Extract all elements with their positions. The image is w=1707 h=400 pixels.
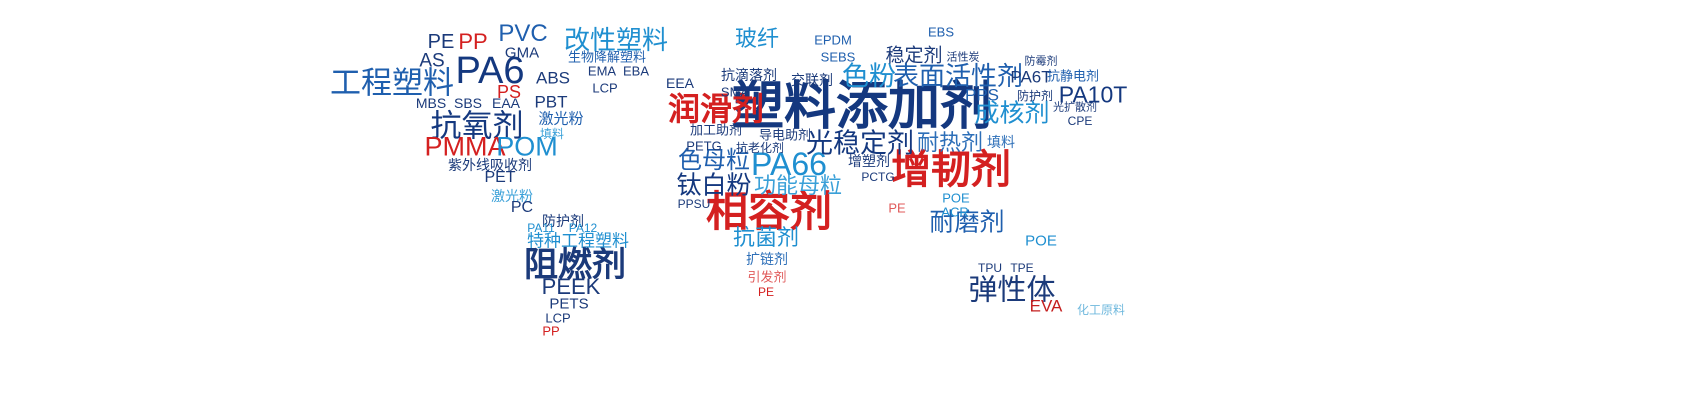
wordcloud-word[interactable]: PE xyxy=(758,286,774,298)
wordcloud-word[interactable]: ABS xyxy=(536,70,570,87)
wordcloud-word[interactable]: GMA xyxy=(505,46,539,61)
wordcloud-word[interactable]: EVA xyxy=(1030,298,1063,315)
wordcloud-word[interactable]: PET xyxy=(484,170,515,186)
wordcloud-word[interactable]: 抗菌剂 xyxy=(733,227,799,249)
wordcloud-word[interactable]: EPDM xyxy=(814,34,852,47)
wordcloud-word[interactable]: PVC xyxy=(498,22,547,46)
wordcloud-word[interactable]: 激光粉 xyxy=(538,112,583,127)
wordcloud-word[interactable]: POE xyxy=(942,192,969,205)
wordcloud-word[interactable]: PP xyxy=(542,325,559,338)
wordcloud-word[interactable]: PPSU xyxy=(678,198,711,210)
wordcloud-word[interactable]: 化工原料 xyxy=(1077,304,1125,316)
wordcloud-word[interactable]: 交联剂 xyxy=(791,73,833,87)
wordcloud-word[interactable]: 钛白粉 xyxy=(676,174,751,199)
wordcloud-word[interactable]: PPS xyxy=(965,87,999,104)
wordcloud-word[interactable]: 抗滴落剂 xyxy=(721,68,777,82)
wordcloud-word[interactable]: SMA xyxy=(721,86,749,99)
wordcloud-word[interactable]: 抗老化剂 xyxy=(736,142,784,154)
wordcloud-word[interactable]: 扩链剂 xyxy=(746,252,788,266)
wordcloud-word[interactable]: PA6T xyxy=(1010,69,1051,86)
wordcloud-word[interactable]: EBA xyxy=(623,65,649,78)
wordcloud-word[interactable]: TPE xyxy=(1010,262,1033,274)
wordcloud-word[interactable]: 色粉 xyxy=(842,64,896,91)
wordcloud-word[interactable]: AS xyxy=(419,52,444,71)
wordcloud-word[interactable]: SEBS xyxy=(821,51,856,64)
wordcloud-word[interactable]: EAA xyxy=(492,96,520,110)
wordcloud-word[interactable]: LCP xyxy=(592,82,617,95)
wordcloud-word[interactable]: 稳定剂 xyxy=(885,47,942,66)
wordcloud-word[interactable]: PCTG xyxy=(861,171,894,183)
wordcloud-word[interactable]: 耐热剂 xyxy=(917,132,983,154)
wordcloud-word[interactable]: 光扩散剂 xyxy=(1053,103,1097,114)
wordcloud-word[interactable]: 引发剂 xyxy=(747,271,786,284)
wordcloud-word[interactable]: 增塑剂 xyxy=(848,154,890,168)
wordcloud-word[interactable]: CPE xyxy=(1068,115,1093,127)
wordcloud-word[interactable]: 表面活性剂 xyxy=(893,63,1023,89)
wordcloud-word[interactable]: 玻纤 xyxy=(735,28,779,50)
wordcloud-word[interactable]: EMA xyxy=(588,65,616,78)
wordcloud-word[interactable]: 功能母粒 xyxy=(754,175,842,197)
wordcloud-word[interactable]: PETG xyxy=(686,140,721,153)
wordcloud-word[interactable]: EEA xyxy=(666,76,694,90)
wordcloud-word[interactable]: PE xyxy=(888,202,905,215)
wordcloud-word[interactable]: 特种工程塑料 xyxy=(527,233,629,250)
wordcloud-word[interactable]: 工程塑料 xyxy=(330,68,454,99)
wordcloud-word[interactable]: ACR xyxy=(941,206,968,219)
wordcloud-word[interactable]: 填料 xyxy=(987,135,1015,149)
wordcloud-word[interactable]: PETS xyxy=(549,297,588,312)
wordcloud-word[interactable]: 填料 xyxy=(540,128,564,140)
wordcloud-word[interactable]: 防护剂 xyxy=(1017,90,1053,102)
wordcloud-word[interactable]: PBT xyxy=(534,94,567,111)
wordcloud-word[interactable]: EBS xyxy=(928,26,954,39)
wordcloud-word[interactable]: 加工助剂 xyxy=(690,124,742,137)
wordcloud-word[interactable]: PP xyxy=(458,31,487,53)
wordcloud-word[interactable]: PE xyxy=(428,32,455,52)
wordcloud-word[interactable]: POE xyxy=(1025,234,1057,249)
wordcloud-word[interactable]: 成核剂 xyxy=(974,102,1049,127)
wordcloud-word[interactable]: 润滑剂 xyxy=(668,93,764,125)
wordcloud-word[interactable]: PC xyxy=(511,200,533,216)
wordcloud-word[interactable]: MBS xyxy=(416,96,446,110)
wordcloud-word[interactable]: 防霉剂 xyxy=(1025,57,1058,68)
wordcloud-word[interactable]: 活性炭 xyxy=(947,53,980,64)
wordcloud-word[interactable]: 导电助剂 xyxy=(759,129,811,142)
wordcloud-canvas: 塑料添加剂相容剂增韧剂阻燃剂润滑剂工程塑料抗氧剂PA6PMMAPOMPA66光稳… xyxy=(0,0,1707,400)
wordcloud-word[interactable]: 抗静电剂 xyxy=(1047,70,1099,83)
wordcloud-word[interactable]: TPU xyxy=(978,262,1002,274)
wordcloud-word[interactable]: 生物降解塑料 xyxy=(568,51,646,64)
wordcloud-word[interactable]: SBS xyxy=(454,96,482,110)
